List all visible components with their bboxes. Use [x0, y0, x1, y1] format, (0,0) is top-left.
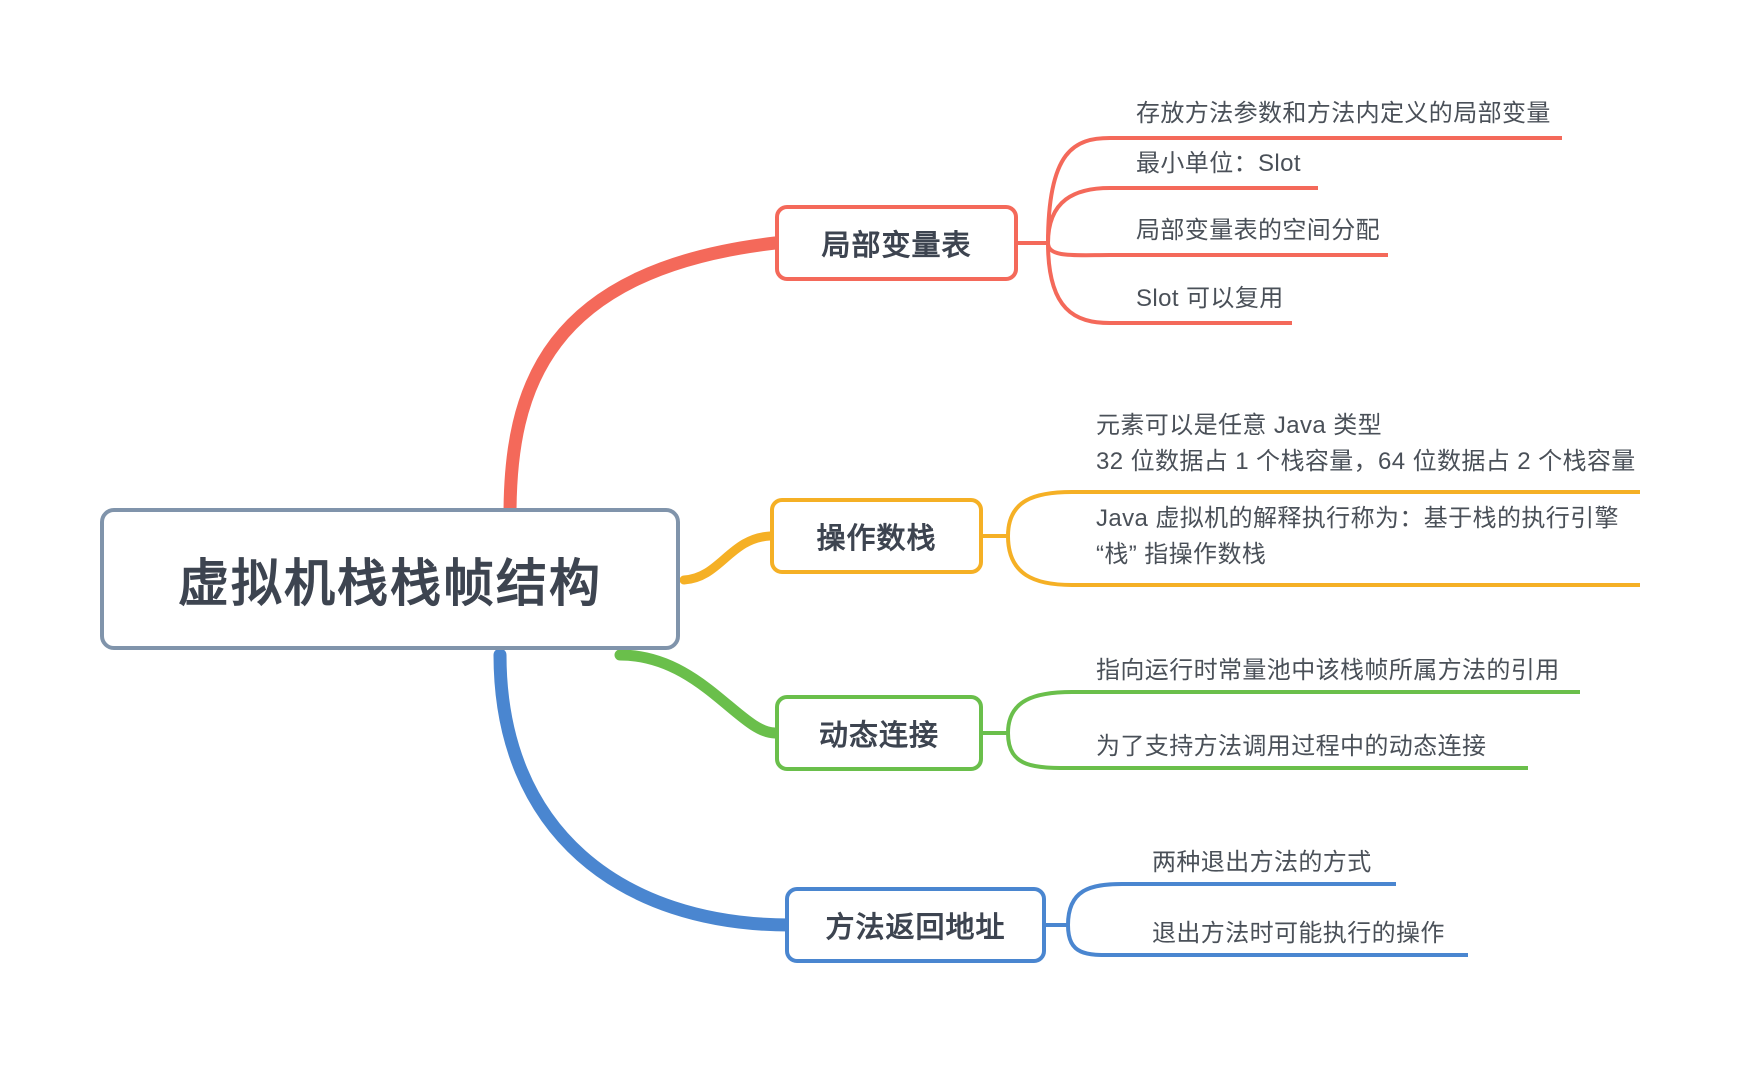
mindmap-canvas: 虚拟机栈栈帧结构 局部变量表 存放方法参数和方法内定义的局部变量 最小单位：Sl…: [0, 0, 1748, 1072]
leaf-node[interactable]: Java 虚拟机的解释执行称为：基于栈的执行引擎 “栈” 指操作数栈: [1090, 501, 1625, 579]
leaf-node[interactable]: 为了支持方法调用过程中的动态连接: [1090, 729, 1492, 771]
branch-node-label: 局部变量表: [821, 222, 971, 264]
root-node-label: 虚拟机栈栈帧结构: [178, 542, 602, 616]
branch-node-dynamic-linking[interactable]: 动态连接: [775, 695, 983, 771]
branch-node-local-variable-table[interactable]: 局部变量表: [775, 205, 1018, 281]
leaf-node[interactable]: 局部变量表的空间分配: [1130, 213, 1386, 255]
leaf-node[interactable]: 两种退出方法的方式: [1146, 845, 1378, 887]
branch-node-operand-stack[interactable]: 操作数栈: [770, 498, 983, 574]
leaf-node[interactable]: 退出方法时可能执行的操作: [1146, 916, 1451, 958]
branch-node-label: 操作数栈: [816, 515, 936, 557]
branch-node-label: 方法返回地址: [825, 904, 1005, 946]
leaf-node[interactable]: 元素可以是任意 Java 类型 32 位数据占 1 个栈容量，64 位数据占 2…: [1090, 408, 1642, 486]
branch-node-label: 动态连接: [819, 712, 939, 754]
leaf-node[interactable]: 指向运行时常量池中该栈帧所属方法的引用: [1090, 653, 1566, 695]
branch-node-method-return-address[interactable]: 方法返回地址: [785, 887, 1046, 963]
root-node[interactable]: 虚拟机栈栈帧结构: [100, 508, 680, 650]
leaf-node[interactable]: 最小单位：Slot: [1130, 146, 1307, 188]
leaf-node[interactable]: Slot 可以复用: [1130, 281, 1290, 323]
leaf-node[interactable]: 存放方法参数和方法内定义的局部变量: [1130, 96, 1557, 138]
